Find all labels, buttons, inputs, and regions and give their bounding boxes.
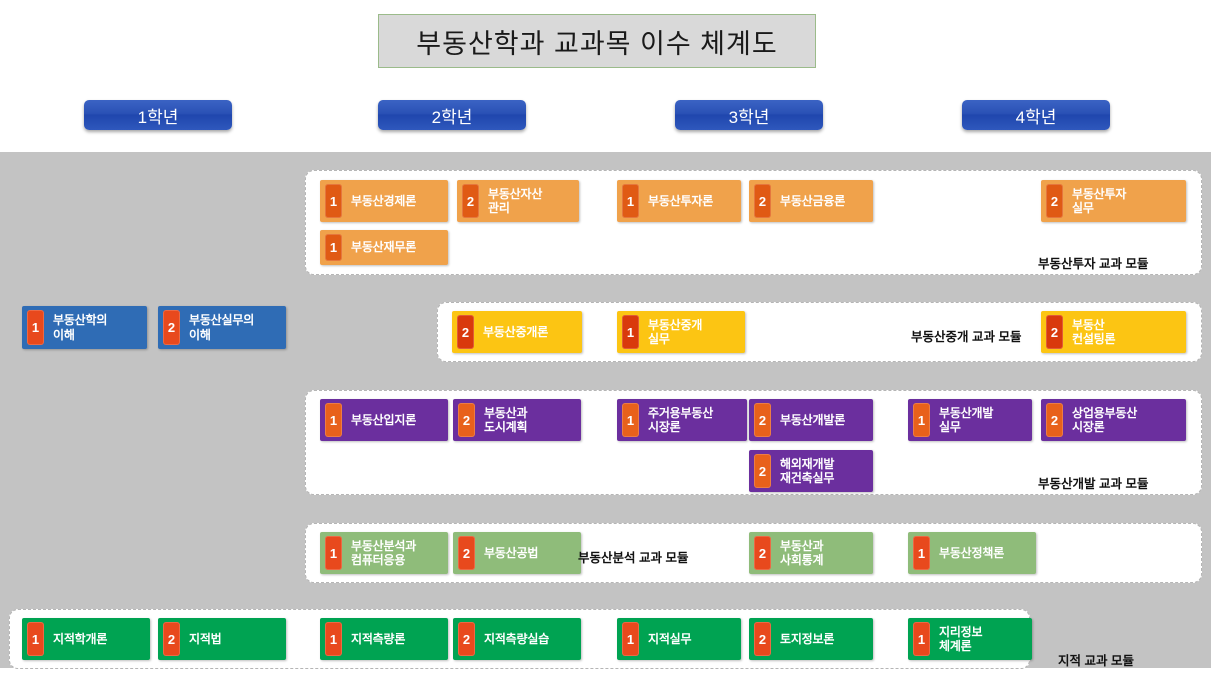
course-card-invest-3[interactable]: 1 부동산재무론 <box>320 230 448 265</box>
year-badge-2-label: 2학년 <box>432 103 473 128</box>
course-card-invest-4[interactable]: 1 부동산투자론 <box>617 180 741 222</box>
course-number-badge: 2 <box>1046 403 1063 437</box>
course-card-label: 부동산입지론 <box>342 399 448 441</box>
course-number-badge: 2 <box>754 622 771 656</box>
course-number-badge: 2 <box>458 536 475 570</box>
course-card-label: 상업용부동산 시장론 <box>1063 399 1186 441</box>
course-card-label: 부동산금융론 <box>771 180 873 222</box>
course-card-broker-2[interactable]: 1 부동산중개 실무 <box>617 311 745 353</box>
page-title-text: 부동산학과 교과목 이수 체계도 <box>416 22 777 61</box>
course-number-badge: 1 <box>913 622 930 656</box>
course-card-invest-5[interactable]: 2 부동산금융론 <box>749 180 873 222</box>
course-number-badge: 1 <box>325 234 342 261</box>
course-number-badge: 2 <box>754 536 771 570</box>
course-number-badge: 2 <box>462 184 479 218</box>
year-badge-3-label: 3학년 <box>729 103 770 128</box>
year-badge-1-label: 1학년 <box>138 103 179 128</box>
course-card-label: 부동산투자 실무 <box>1063 180 1186 222</box>
course-number-badge: 2 <box>1046 184 1063 218</box>
course-number-badge: 2 <box>754 403 771 437</box>
course-card-label: 부동산공법 <box>475 532 581 574</box>
course-number-badge: 1 <box>622 622 639 656</box>
course-card-label: 부동산투자론 <box>639 180 741 222</box>
course-card-label: 부동산개발론 <box>771 399 873 441</box>
course-card-label: 해외재개발 재건축실무 <box>771 450 873 492</box>
course-card-label: 부동산정책론 <box>930 532 1036 574</box>
course-card-devel-6[interactable]: 1 부동산개발 실무 <box>908 399 1032 441</box>
course-card-label: 부동산중개론 <box>474 311 582 353</box>
page-title: 부동산학과 교과목 이수 체계도 <box>378 14 816 68</box>
course-card-devel-2[interactable]: 2 부동산과 도시계획 <box>453 399 581 441</box>
course-card-label: 부동산 컨설팅론 <box>1063 311 1186 353</box>
course-card-label: 부동산과 도시계획 <box>475 399 581 441</box>
course-card-label: 지적법 <box>180 618 286 660</box>
course-card-cadas-5[interactable]: 1 지적실무 <box>617 618 741 660</box>
course-card-devel-1[interactable]: 1 부동산입지론 <box>320 399 448 441</box>
course-card-label: 지적측량론 <box>342 618 448 660</box>
course-card-label: 부동산경제론 <box>342 180 448 222</box>
course-number-badge: 2 <box>458 403 475 437</box>
year-badge-4-label: 4학년 <box>1016 103 1057 128</box>
course-card-devel-4[interactable]: 2 부동산개발론 <box>749 399 873 441</box>
course-number-badge: 2 <box>458 622 475 656</box>
course-card-devel-5[interactable]: 2 해외재개발 재건축실무 <box>749 450 873 492</box>
module-label-analy: 부동산분석 교과 모듈 <box>578 547 688 566</box>
course-number-badge: 1 <box>325 403 342 437</box>
course-card-label: 주거용부동산 시장론 <box>639 399 747 441</box>
year-badge-4: 4학년 <box>962 100 1110 130</box>
course-card-cadas-4[interactable]: 2 지적측량실습 <box>453 618 581 660</box>
course-card-label: 지리정보 체계론 <box>930 618 1032 660</box>
course-number-badge: 2 <box>457 315 474 349</box>
course-number-badge: 2 <box>163 622 180 656</box>
course-card-broker-3[interactable]: 2 부동산 컨설팅론 <box>1041 311 1186 353</box>
course-card-analy-1[interactable]: 1 부동산분석과 컴퓨터응용 <box>320 532 448 574</box>
course-card-devel-7[interactable]: 2 상업용부동산 시장론 <box>1041 399 1186 441</box>
course-card-invest-6[interactable]: 2 부동산투자 실무 <box>1041 180 1186 222</box>
course-card-label: 부동산분석과 컴퓨터응용 <box>342 532 448 574</box>
year-badge-2: 2학년 <box>378 100 526 130</box>
course-card-cadas-6[interactable]: 2 토지정보론 <box>749 618 873 660</box>
module-label-broker: 부동산중개 교과 모듈 <box>911 326 1021 345</box>
course-card-label: 부동산실무의 이해 <box>180 306 286 349</box>
course-card-analy-4[interactable]: 1 부동산정책론 <box>908 532 1036 574</box>
course-card-label: 부동산개발 실무 <box>930 399 1032 441</box>
course-card-cadas-3[interactable]: 1 지적측량론 <box>320 618 448 660</box>
course-number-badge: 2 <box>163 310 180 345</box>
course-number-badge: 1 <box>913 536 930 570</box>
course-card-invest-2[interactable]: 2 부동산자산 관리 <box>457 180 579 222</box>
course-number-badge: 1 <box>27 310 44 345</box>
course-card-cadas-2[interactable]: 2 지적법 <box>158 618 286 660</box>
course-number-badge: 1 <box>325 184 342 218</box>
course-card-intro-2[interactable]: 2 부동산실무의 이해 <box>158 306 286 349</box>
course-card-label: 부동산과 사회통계 <box>771 532 873 574</box>
year-badge-3: 3학년 <box>675 100 823 130</box>
course-card-label: 부동산중개 실무 <box>639 311 745 353</box>
course-card-label: 지적학개론 <box>44 618 150 660</box>
course-card-label: 부동산재무론 <box>342 230 448 265</box>
year-badge-1: 1학년 <box>84 100 232 130</box>
course-number-badge: 1 <box>27 622 44 656</box>
course-card-analy-2[interactable]: 2 부동산공법 <box>453 532 581 574</box>
course-card-analy-3[interactable]: 2 부동산과 사회통계 <box>749 532 873 574</box>
course-number-badge: 2 <box>1046 315 1063 349</box>
course-card-broker-1[interactable]: 2 부동산중개론 <box>452 311 582 353</box>
course-card-devel-3[interactable]: 1 주거용부동산 시장론 <box>617 399 747 441</box>
course-number-badge: 2 <box>754 184 771 218</box>
course-number-badge: 1 <box>325 536 342 570</box>
course-card-cadas-1[interactable]: 1 지적학개론 <box>22 618 150 660</box>
module-label-cadas: 지적 교과 모듈 <box>1058 650 1134 669</box>
module-label-invest: 부동산투자 교과 모듈 <box>1038 253 1148 272</box>
course-number-badge: 1 <box>622 315 639 349</box>
course-number-badge: 1 <box>622 403 639 437</box>
course-card-label: 부동산자산 관리 <box>479 180 579 222</box>
course-card-label: 지적측량실습 <box>475 618 581 660</box>
course-card-cadas-7[interactable]: 1 지리정보 체계론 <box>908 618 1032 660</box>
course-number-badge: 1 <box>325 622 342 656</box>
module-label-devel: 부동산개발 교과 모듈 <box>1038 473 1148 492</box>
course-card-label: 부동산학의 이해 <box>44 306 147 349</box>
course-card-label: 토지정보론 <box>771 618 873 660</box>
course-number-badge: 2 <box>754 454 771 488</box>
course-card-invest-1[interactable]: 1 부동산경제론 <box>320 180 448 222</box>
course-card-intro-1[interactable]: 1 부동산학의 이해 <box>22 306 147 349</box>
course-number-badge: 1 <box>622 184 639 218</box>
course-number-badge: 1 <box>913 403 930 437</box>
course-card-label: 지적실무 <box>639 618 741 660</box>
